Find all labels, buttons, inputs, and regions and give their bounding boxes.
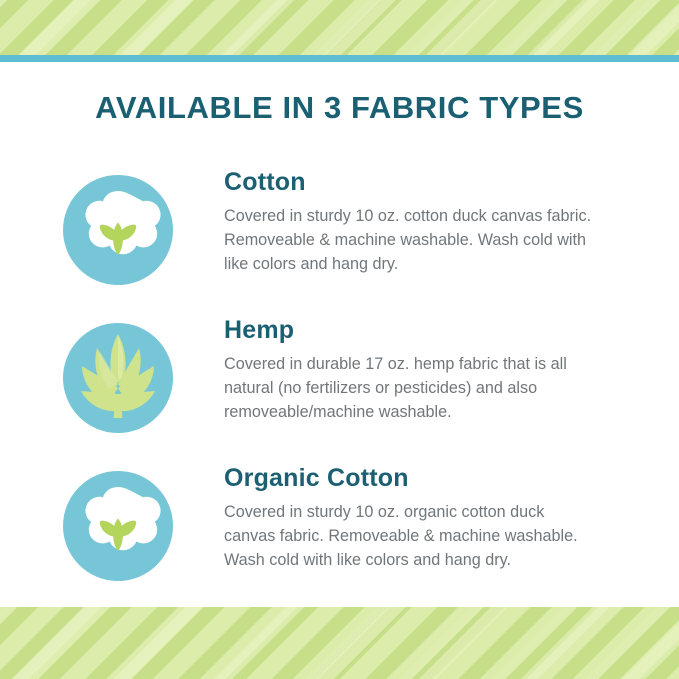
page-title: AVAILABLE IN 3 FABRIC TYPES [0,90,679,126]
hemp-leaf-icon [62,322,174,434]
bottom-decorative-band [0,607,679,679]
diagonal-dash-overlay [0,607,679,679]
fabric-description: Covered in sturdy 10 oz. organic cotton … [224,501,596,573]
cotton-boll-icon [62,174,174,286]
cotton-boll-icon [62,470,174,582]
fabric-description: Covered in durable 17 oz. hemp fabric th… [224,353,596,425]
fabric-type-list: Cotton Covered in sturdy 10 oz. cotton d… [0,160,679,604]
fabric-title: Hemp [224,316,641,345]
fabric-text-hemp: Hemp Covered in durable 17 oz. hemp fabr… [224,308,641,425]
top-decorative-band [0,0,679,62]
infographic-page: AVAILABLE IN 3 FABRIC TYPES Cotton Cover… [0,0,679,679]
fabric-row-hemp: Hemp Covered in durable 17 oz. hemp fabr… [0,308,679,434]
fabric-title: Organic Cotton [224,464,641,493]
fabric-text-organic-cotton: Organic Cotton Covered in sturdy 10 oz. … [224,456,641,573]
fabric-text-cotton: Cotton Covered in sturdy 10 oz. cotton d… [224,160,641,277]
top-accent-rule [0,55,679,62]
fabric-title: Cotton [224,168,641,197]
fabric-description: Covered in sturdy 10 oz. cotton duck can… [224,205,596,277]
diagonal-dash-overlay [0,0,679,62]
diagonal-stripe-pattern [0,607,679,679]
diagonal-stripe-pattern [0,0,679,62]
fabric-row-cotton: Cotton Covered in sturdy 10 oz. cotton d… [0,160,679,286]
fabric-row-organic-cotton: Organic Cotton Covered in sturdy 10 oz. … [0,456,679,582]
